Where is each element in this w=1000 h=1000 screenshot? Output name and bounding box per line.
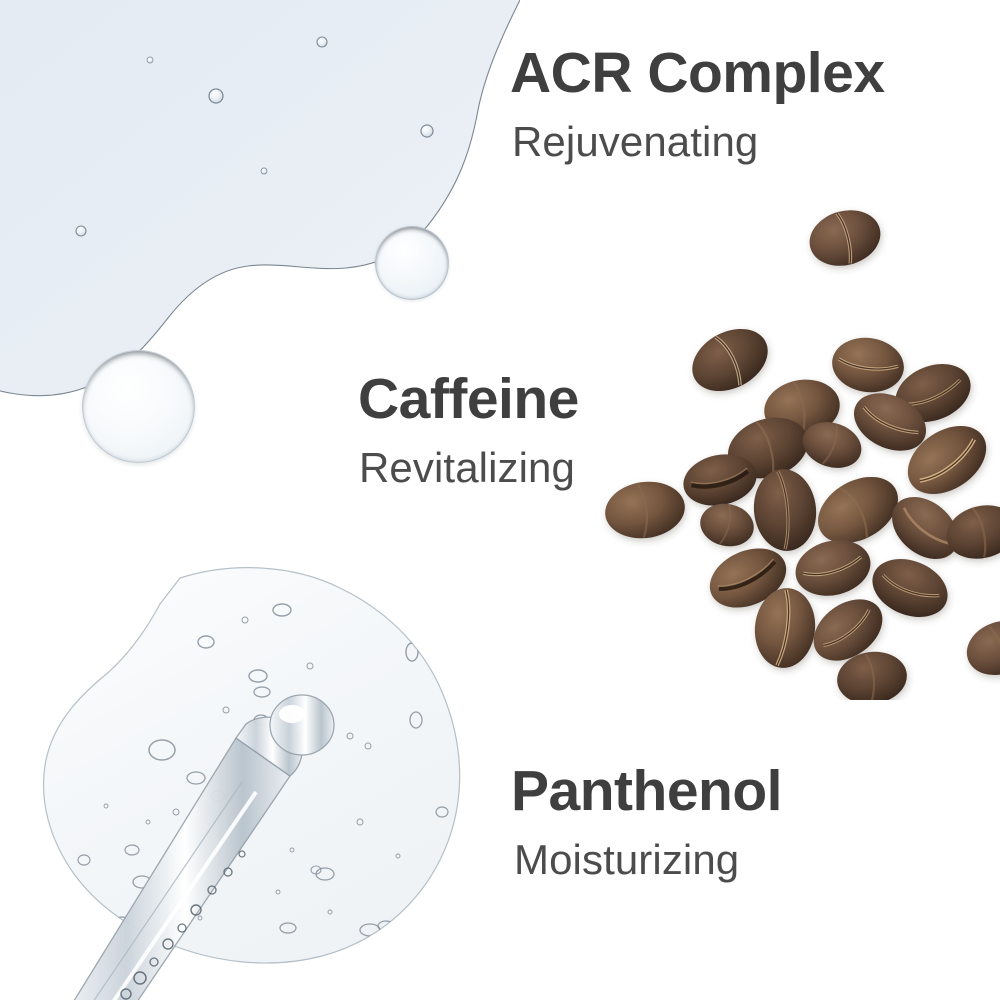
coffee-bean [803,202,887,274]
coffee-bean [880,484,970,571]
infographic-canvas: ACR Complex Rejuvenating Caffeine Revita… [0,0,1000,1000]
ingredient-subtitle: Revitalizing [359,446,579,490]
coffee-bean [720,408,816,489]
callout-panthenol: Panthenol Moisturizing [511,762,782,882]
coffee-bean-cluster [600,180,1000,700]
coffee-bean [797,415,868,475]
coffee-bean [895,412,999,508]
coffee-bean [696,499,758,551]
coffee-bean [887,353,980,432]
coffee-bean [829,333,908,396]
droplet-large [82,350,195,463]
coffee-bean [751,585,819,671]
ingredient-title: ACR Complex [510,44,885,103]
droplet-small [375,226,449,300]
coffee-bean [750,466,820,554]
coffee-bean [790,533,877,604]
coffee-bean [941,498,1000,566]
gel-bubbles [54,604,493,983]
gel-swatch [30,560,500,1000]
coffee-bean [806,463,909,556]
callout-acr-complex: ACR Complex Rejuvenating [510,44,885,164]
ingredient-subtitle: Moisturizing [514,838,782,882]
ingredient-subtitle: Rejuvenating [512,120,885,164]
coffee-bean [682,316,779,403]
gel-blob-shape [44,568,460,963]
coffee-bean [601,477,688,544]
ingredient-title: Caffeine [358,370,579,429]
callout-caffeine: Caffeine Revitalizing [358,370,579,490]
serum-bubbles [76,37,433,236]
dropper-pipette [56,695,334,1000]
coffee-bean [959,612,1000,684]
coffee-bean [760,374,845,442]
coffee-bean [844,382,935,462]
ingredient-title: Panthenol [511,762,782,821]
coffee-bean [802,587,894,674]
coffee-bean [834,647,911,700]
coffee-bean [864,548,957,627]
serum-spill-shape [0,0,520,396]
coffee-bean [679,448,762,512]
coffee-bean [700,537,795,619]
